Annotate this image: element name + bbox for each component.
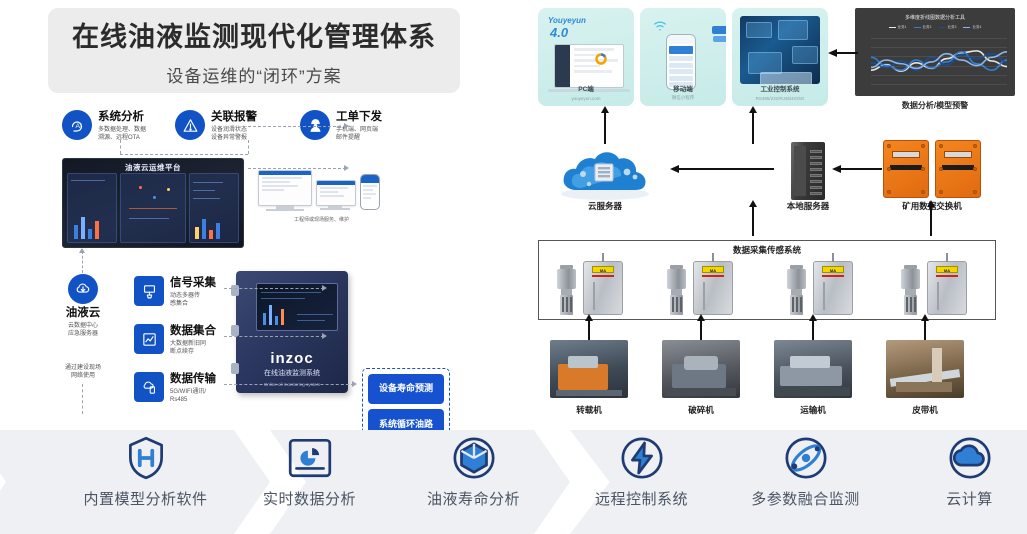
warning-icon: [175, 110, 205, 140]
bottom-item-label: 实时数据分析: [263, 488, 356, 509]
feature-title: 数据传输: [170, 373, 216, 386]
app-card-label: 移动端: [640, 83, 726, 93]
legend-item: 业务1: [889, 25, 907, 30]
connector-analysis-row: [120, 154, 248, 155]
mobile-phone: [360, 174, 380, 210]
node-title: 油液云: [66, 307, 101, 320]
node-desc: 云数据中心 应急服务器: [68, 322, 98, 338]
pie-chart-icon: [285, 430, 335, 486]
cloud-server-icon: [555, 150, 655, 202]
feature-title: 工单下发: [336, 111, 382, 124]
wifi-icon: [652, 18, 668, 34]
feature-desc: 动态多器传 感集合: [170, 292, 216, 308]
device-name-cn: 在线油液监测系统: [236, 368, 348, 378]
bottom-item-label: 多参数融合监测: [751, 488, 860, 509]
feature-title: 数据集合: [170, 325, 216, 338]
cloud-down-icon: [68, 274, 98, 304]
arrow-server-to-cloud: [678, 168, 774, 170]
feature-desc: 5G/WIFI通讯/ Rs485: [170, 388, 216, 404]
connector-transmission: [224, 384, 354, 385]
chart-plot-area: [871, 38, 1007, 84]
connector-cloud-down: [82, 384, 83, 414]
machine-label-belt: 皮带机: [886, 404, 964, 416]
cloud-server-node: [555, 150, 655, 202]
monitor-large: [258, 170, 312, 206]
app-card-sub: 微信小程序: [640, 95, 726, 101]
sensor-pair-4: MA: [899, 261, 973, 317]
sensor-unit: MA: [927, 261, 967, 315]
arrow-head: [79, 248, 85, 253]
mine-switch-node: [883, 140, 981, 202]
arrow-machine1-up: [588, 320, 590, 340]
chart-legend: 业务1 业务2 业务3 业务4: [855, 25, 1015, 30]
server-front-panel: [794, 146, 806, 196]
platform-screen: 油液云运维平台: [62, 158, 244, 248]
sensor-unit: MA: [813, 261, 853, 315]
sensor-unit-tag: MA: [592, 266, 614, 273]
oil-probe-icon: [667, 265, 687, 315]
arrow-machine4-up: [924, 320, 926, 340]
donut-chart-icon: [595, 53, 607, 65]
local-server-node: [785, 142, 831, 204]
sensor-band-title: 数据采集传感系统: [539, 244, 995, 256]
sensor-pair-1: MA: [555, 261, 629, 317]
right-diagram: Youyeyun 4.0 PC端 youyeyun.com: [500, 0, 1027, 440]
connector-alarm-down: [248, 140, 249, 154]
arrow-industrial-to-chart: [836, 52, 858, 54]
cube-icon: [449, 430, 499, 486]
app-card-industrial: 工业控制系统 RS485/232/RJ45/4G/5G: [732, 8, 828, 106]
switch-unit-2: [935, 140, 981, 198]
bottom-item-label: 内置模型分析软件: [83, 488, 207, 509]
sensor-icon: [134, 276, 164, 306]
engineer-note: 工程师或现场服务、维护: [294, 216, 349, 223]
arrow-server-to-industrial: [752, 112, 754, 144]
monitor-header: [259, 171, 311, 175]
feature-desc: 设备润滑状态 设备异常警报: [211, 126, 257, 142]
page-title-card: 在线油液监测现代化管理体系 设备运维的“闭环”方案: [48, 8, 460, 93]
cloud-upload-icon: [134, 372, 164, 402]
device-brand: inzoc: [236, 350, 348, 367]
shield-icon: [121, 430, 171, 486]
sensor-unit-tag: MA: [936, 266, 958, 273]
arrow-head: [322, 285, 327, 291]
machine-label-crusher: 破碎机: [662, 404, 740, 416]
page-subtitle: 设备运维的“闭环”方案: [166, 62, 341, 87]
phone-callout-secondary: [713, 36, 726, 42]
bottom-item-realtime-data-analysis[interactable]: 实时数据分析: [224, 430, 395, 534]
feature-data-transmission: 数据传输 5G/WIFI通讯/ Rs485: [134, 372, 216, 404]
arrow-machine2-up: [700, 320, 702, 340]
sensor-system-band: 数据采集传感系统 MA: [538, 240, 996, 320]
laptop-mockup: [554, 44, 624, 88]
switch-port-strip: [942, 165, 974, 170]
chart-title: 多维度折线图数据分析工具: [855, 14, 1015, 21]
industrial-photo: [740, 16, 820, 84]
sensor-unit: MA: [583, 261, 623, 315]
bottom-feature-bar: 内置模型分析软件 实时数据分析 油液寿命分析: [0, 430, 1027, 534]
feature-system-analysis: AI 系统分析 多数据处理、数据 溯源、远程OTA: [62, 110, 146, 142]
chart-lines: [871, 38, 1007, 84]
sensor-unit-tag: MA: [822, 266, 844, 273]
bottom-item-oil-life-analysis[interactable]: 油液寿命分析: [388, 430, 559, 534]
app-card-sub: youyeyun.com: [538, 96, 634, 101]
arrow-head: [344, 165, 349, 171]
legend-item: 业务4: [963, 25, 981, 30]
legend-item: 业务2: [914, 25, 932, 30]
youyeyun-version: 4.0: [550, 25, 568, 40]
arrow-band-to-server: [752, 206, 754, 236]
platform-screen-content: [67, 173, 239, 243]
bottom-item-label: 远程控制系统: [595, 488, 688, 509]
connector-signal: [224, 288, 324, 289]
feature-signal-acquisition: 信号采集 动态多器传 感集合: [134, 276, 216, 308]
phone-callout-primary: [712, 26, 726, 34]
machine-photo-transport: [774, 340, 852, 398]
device-latch-top: [231, 285, 239, 296]
phone-header: [361, 175, 379, 183]
app-card-pc: Youyeyun 4.0 PC端 youyeyun.com: [538, 8, 634, 106]
feature-title: 系统分析: [98, 111, 146, 124]
machine-label-transfer: 转载机: [550, 404, 628, 416]
feature-desc: 多数据处理、数据 溯源、远程OTA: [98, 126, 146, 142]
connector-aggregation: [224, 336, 324, 337]
phone-status-bar: [667, 35, 695, 44]
monitor-base: [320, 208, 350, 210]
chart-icon: [134, 324, 164, 354]
oil-cloud-node: 油液云 云数据中心 应急服务器: [46, 274, 120, 338]
youyeyun-brand: Youyeyun: [548, 16, 586, 25]
sensor-pair-3: MA: [785, 261, 859, 317]
arrow-band-to-switch: [930, 206, 932, 236]
laptop-sidebar: [555, 45, 570, 87]
sensor-pair-2: MA: [665, 261, 739, 317]
feature-title: 关联报警: [211, 111, 257, 124]
screen-panel-right: [189, 173, 239, 243]
ai-icon: AI: [62, 110, 92, 140]
connector-alarm-to-workorder: [248, 126, 346, 127]
analysis-chart-card: 多维度折线图数据分析工具 业务1 业务2 业务3 业务4: [855, 8, 1015, 96]
phone-mockup: [666, 34, 696, 90]
arrow-cloud-to-pc: [604, 112, 606, 144]
screen-panel-center: [120, 173, 187, 243]
arrow-machine3-up: [812, 320, 814, 340]
arrow-head: [344, 123, 349, 129]
screen-panel-left: [67, 173, 117, 243]
arrow-head: [322, 333, 327, 339]
arrow-head: [352, 381, 357, 387]
sensor-unit-tag: MA: [702, 266, 724, 273]
switch-port-strip: [890, 165, 922, 170]
bottom-item-remote-control-system[interactable]: 远程控制系统: [556, 430, 727, 534]
feature-linked-alarm: 关联报警 设备润滑状态 设备异常警报: [175, 110, 257, 142]
left-diagram: AI 系统分析 多数据处理、数据 溯源、远程OTA 关联报警 设备润滑状态 设备…: [0, 96, 500, 426]
monitor-base: [266, 209, 304, 211]
legend-item: 业务3: [939, 25, 957, 30]
machine-photo-crusher: [662, 340, 740, 398]
cloud-icon: [945, 430, 995, 486]
bottom-item-label: 云计算: [946, 488, 993, 509]
connector-cloud-up: [82, 251, 83, 273]
machine-photo-belt: [886, 340, 964, 398]
machine-label-transport: 运输机: [774, 404, 852, 416]
oil-probe-icon: [901, 265, 921, 315]
page-title: 在线油液监测现代化管理体系: [72, 15, 436, 54]
monitor-header: [317, 181, 355, 185]
machine-photo-transfer: [550, 340, 628, 398]
arrow-switch-to-server: [840, 168, 882, 170]
lightning-icon: [617, 430, 667, 486]
monitor-small: [316, 180, 356, 206]
sensor-unit: MA: [693, 261, 733, 315]
oil-probe-icon: [557, 265, 577, 315]
switch-display: [944, 151, 972, 158]
cloud-server-label: 云服务器: [555, 200, 655, 212]
connector-screen-to-workorder: [248, 168, 346, 169]
chart-caption: 数据分析/模型预警: [855, 100, 1015, 111]
app-card-sub: RS485/232/RJ45/4G/5G: [732, 96, 828, 101]
switch-unit-1: [883, 140, 929, 198]
switch-display: [892, 151, 920, 158]
connector-analysis-up: [120, 140, 121, 154]
svg-text:AI: AI: [76, 123, 83, 130]
bottom-item-multi-param-monitoring[interactable]: 多参数融合监测: [720, 430, 891, 534]
local-server-label: 本地服务器: [762, 200, 854, 212]
app-card-label: PC端: [538, 83, 634, 93]
platform-screen-title: 油液云运维平台: [63, 162, 243, 173]
bottom-item-cloud-computing[interactable]: 云计算: [884, 430, 1027, 534]
bottom-item-label: 油液寿命分析: [427, 488, 520, 509]
app-card-mobile: 移动端 微信小程序: [640, 8, 726, 106]
server-tower: [791, 142, 825, 200]
feature-data-aggregation: 数据集合 大数据新旧同 断点续存: [134, 324, 216, 356]
infographic-root: 在线油液监测现代化管理体系 设备运维的“闭环”方案 AI 系统分析 多数据处理、…: [0, 0, 1027, 534]
life-prediction-label: 设备寿命预测: [368, 374, 444, 404]
bottom-item-built-in-model-software[interactable]: 内置模型分析软件: [60, 430, 231, 534]
oil-probe-icon: [787, 265, 807, 315]
app-card-label: 工业控制系统: [732, 83, 828, 93]
engineer-devices: 工程师或现场服务、维护: [258, 158, 378, 253]
feature-desc: 手机端、网页端 邮件提醒: [336, 126, 382, 142]
feature-desc: 大数据新旧同 断点续存: [170, 340, 216, 356]
feature-title: 信号采集: [170, 277, 216, 290]
oil-cloud-note: 通过建设现场 网络使用: [46, 364, 120, 380]
worker-icon: [300, 110, 330, 140]
atom-icon: [781, 430, 831, 486]
device-latch-mid: [231, 325, 239, 336]
oil-monitoring-device: inzoc 在线油液监测系统 Online oil monitoring sys…: [236, 271, 348, 393]
